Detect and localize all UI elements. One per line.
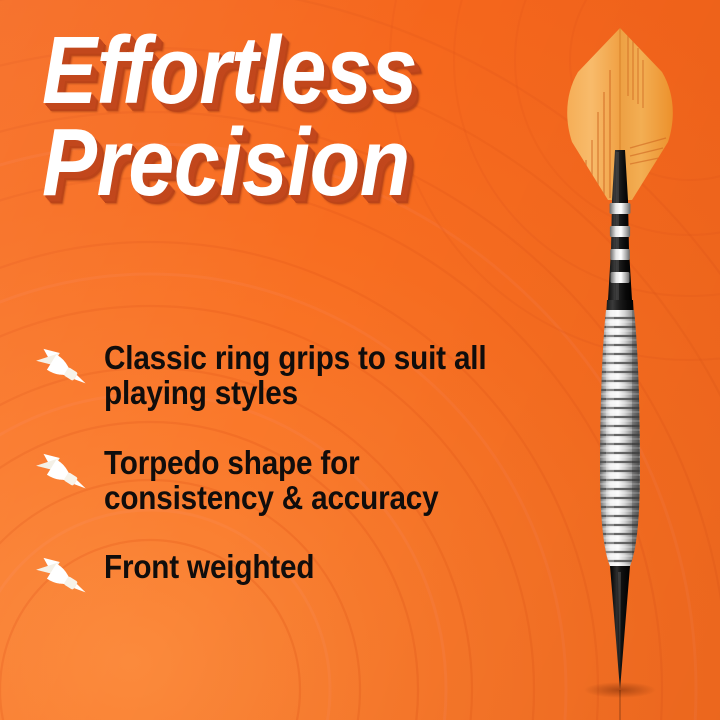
dart-barrel [594,305,646,570]
dart-flight-left [567,28,620,200]
dart-point [584,566,656,720]
promo-banner: Effortless Precision Classic ring grips … [0,0,720,720]
list-item-label: Front weighted [104,549,487,584]
list-item: Classic ring grips to suit all playing s… [30,340,530,411]
list-item: Front weighted [30,549,530,601]
list-item: Torpedo shape for consistency & accuracy [30,445,530,516]
product-image-dart [520,0,720,720]
list-item-label: Classic ring grips to suit all playing s… [104,340,487,411]
page-title: Effortless Precision [42,26,562,208]
feature-list: Classic ring grips to suit all playing s… [30,340,530,601]
dart-icon [30,553,92,601]
dart-icon [30,344,92,392]
list-item-label: Torpedo shape for consistency & accuracy [104,445,487,516]
dart-icon [30,449,92,497]
dart-flight-right [620,28,673,200]
headline-line-2: Precision [42,118,489,208]
headline-line-1: Effortless [42,26,489,116]
